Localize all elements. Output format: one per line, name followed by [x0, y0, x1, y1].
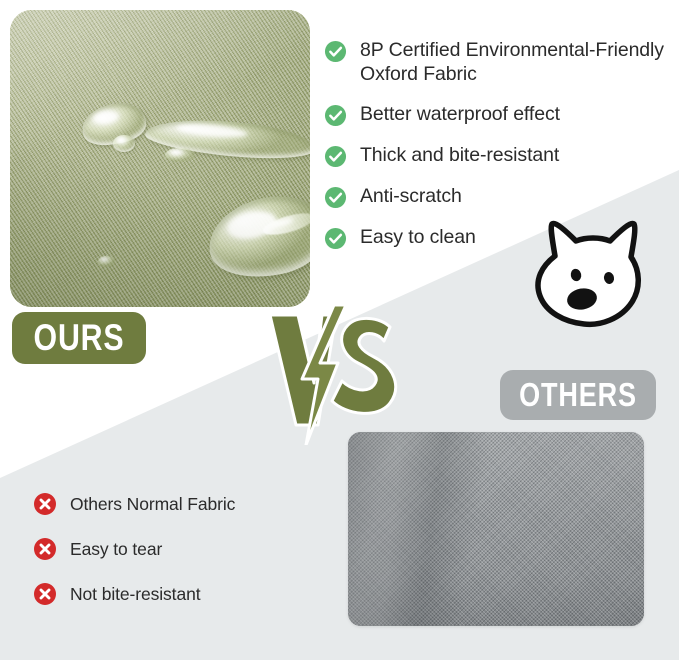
check-circle-icon	[324, 186, 347, 209]
list-item: Better waterproof effect	[324, 102, 672, 127]
drawback-text: Others Normal Fabric	[70, 493, 235, 515]
ours-fabric-photo	[10, 10, 310, 307]
list-item: Easy to tear	[33, 537, 333, 561]
check-circle-icon	[324, 104, 347, 127]
check-circle-icon	[324, 145, 347, 168]
fabric-shading	[10, 10, 310, 307]
others-badge: OTHERS	[500, 370, 656, 420]
list-item: Not bite-resistant	[33, 582, 333, 606]
feature-text: 8P Certified Environmental-Friendly Oxfo…	[360, 38, 672, 86]
comparison-infographic: OURS 8P Certified Environmental-Friendly…	[0, 0, 679, 660]
cross-circle-icon	[33, 537, 57, 561]
others-badge-label: OTHERS	[514, 370, 642, 420]
versus-lightning-icon	[262, 305, 412, 445]
feature-text: Easy to clean	[360, 225, 476, 249]
drawback-text: Not bite-resistant	[70, 583, 200, 605]
feature-text: Better waterproof effect	[360, 102, 560, 126]
others-fabric-photo	[348, 432, 644, 626]
check-circle-icon	[324, 40, 347, 63]
list-item: Others Normal Fabric	[33, 492, 333, 516]
check-circle-icon	[324, 227, 347, 250]
cross-circle-icon	[33, 492, 57, 516]
cross-circle-icon	[33, 582, 57, 606]
list-item: Thick and bite-resistant	[324, 143, 672, 168]
feature-text: Thick and bite-resistant	[360, 143, 559, 167]
list-item: Anti-scratch	[324, 184, 672, 209]
feature-text: Anti-scratch	[360, 184, 462, 208]
list-item: 8P Certified Environmental-Friendly Oxfo…	[324, 38, 672, 86]
ours-badge: OURS	[12, 312, 146, 364]
gray-fabric-folds	[348, 432, 644, 626]
drawback-text: Easy to tear	[70, 538, 162, 560]
others-drawback-list: Others Normal Fabric Easy to tear Not bi…	[33, 492, 333, 606]
dog-face-line-art-icon	[522, 212, 662, 334]
ours-badge-label: OURS	[24, 312, 134, 364]
